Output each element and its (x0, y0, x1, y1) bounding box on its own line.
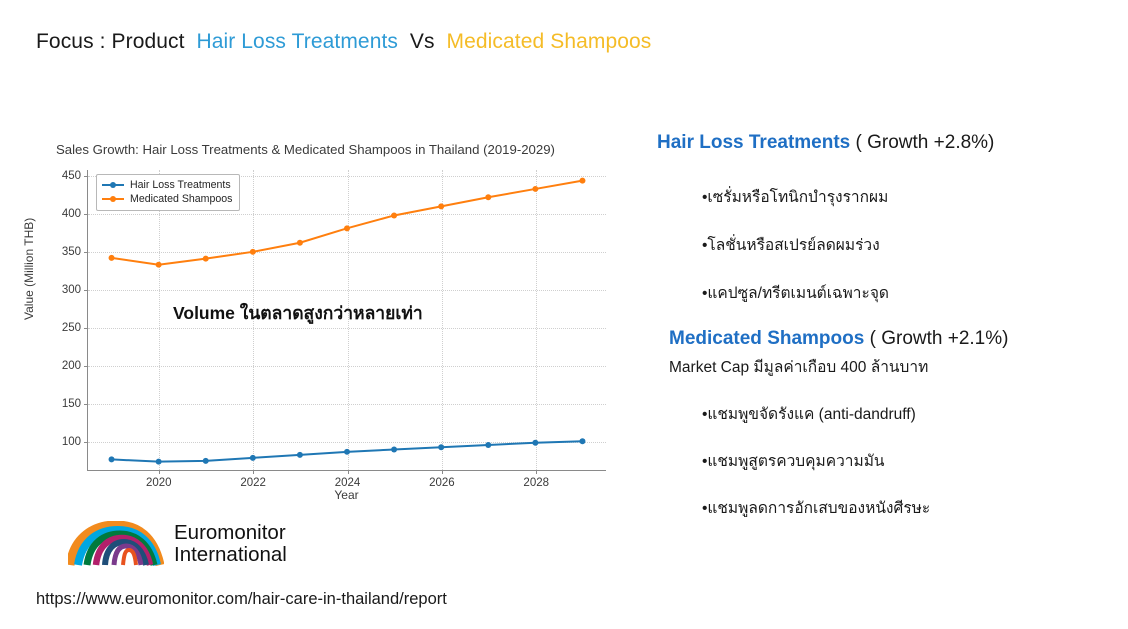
x-tick-mark (536, 470, 537, 474)
logo-line-1: Euromonitor (174, 522, 287, 544)
medicated-shampoos-bullets: •แชมพูขจัดรังแค (anti-dandruff) •แชมพูสู… (702, 401, 1107, 520)
euromonitor-logo: Euromonitor International (68, 521, 287, 567)
data-point (109, 255, 115, 261)
legend-label: Medicated Shampoos (130, 192, 232, 206)
x-tick-mark (348, 470, 349, 474)
sales-growth-line-chart: Sales Growth: Hair Loss Treatments & Med… (26, 142, 626, 502)
data-point (485, 442, 491, 448)
y-tick-label: 300 (62, 284, 81, 296)
data-point (438, 203, 444, 209)
hair-loss-treatments-bullets: •เซรั่มหรือโทนิกบำรุงรากผม •โลชั่นหรือสเ… (702, 184, 1107, 305)
chart-plot-area: 100150200250300350400450 202020222024202… (87, 170, 606, 471)
y-tick-label: 100 (62, 436, 81, 448)
data-point (203, 458, 209, 464)
data-point (109, 456, 115, 462)
section-a-growth: ( Growth +2.8%) (856, 132, 995, 153)
list-item: •แชมพูสูตรควบคุมความมัน (702, 448, 1107, 473)
source-url-text[interactable]: https://www.euromonitor.com/hair-care-in… (36, 590, 447, 609)
section-b-name: Medicated Shampoos (669, 328, 864, 349)
section-heading-medicated-shampoos: Medicated Shampoos ( Growth +2.1%) (669, 328, 1107, 350)
data-point (532, 186, 538, 192)
x-tick-mark (442, 470, 443, 474)
data-point (344, 225, 350, 231)
data-point (297, 452, 303, 458)
list-item: •แชมพูลดการอักเสบของหนังศีรษะ (702, 495, 1107, 520)
legend-item-hair-loss-treatments: Hair Loss Treatments (102, 178, 232, 192)
chart-annotation-text: Volume ในตลาดสูงกว่าหลายเท่า (173, 299, 423, 327)
section-a-name: Hair Loss Treatments (657, 132, 850, 153)
data-point (532, 440, 538, 446)
data-point (156, 459, 162, 465)
chart-legend: Hair Loss Treatments Medicated Shampoos (96, 174, 240, 211)
legend-swatch-icon (102, 179, 124, 191)
x-tick-label: 2026 (429, 477, 455, 489)
euromonitor-wordmark: Euromonitor International (174, 522, 287, 566)
y-tick-label: 350 (62, 246, 81, 258)
header-focus-label: Focus : Product (36, 30, 185, 53)
x-tick-label: 2028 (523, 477, 549, 489)
chart-title: Sales Growth: Hair Loss Treatments & Med… (56, 142, 555, 157)
data-point (250, 455, 256, 461)
x-tick-mark (159, 470, 160, 474)
data-point (485, 194, 491, 200)
logo-line-2: International (174, 544, 287, 566)
x-tick-mark (253, 470, 254, 474)
data-point (438, 444, 444, 450)
data-point (297, 240, 303, 246)
chart-x-axis-label: Year (87, 488, 606, 502)
header-vs: Vs (410, 30, 435, 53)
data-point (344, 449, 350, 455)
list-item: •แคปซูล/ทรีตเมนต์เฉพาะจุด (702, 280, 1107, 305)
data-point (203, 256, 209, 262)
legend-swatch-icon (102, 193, 124, 205)
data-point (579, 178, 585, 184)
section-heading-hair-loss-treatments: Hair Loss Treatments ( Growth +2.8%) (657, 132, 1107, 154)
y-tick-label: 250 (62, 322, 81, 334)
euromonitor-arcs-icon (68, 521, 164, 567)
right-content-column: Hair Loss Treatments ( Growth +2.8%) •เซ… (657, 132, 1107, 542)
data-point (391, 447, 397, 453)
section-b-wrapper: Medicated Shampoos ( Growth +2.1%) Marke… (669, 328, 1107, 379)
header-product-a: Hair Loss Treatments (196, 30, 398, 53)
chart-y-axis-label: Value (Million THB) (22, 218, 36, 320)
data-point (250, 249, 256, 255)
data-point (156, 262, 162, 268)
header-product-b: Medicated Shampoos (446, 30, 651, 53)
x-tick-label: 2024 (335, 477, 361, 489)
list-item: •เซรั่มหรือโทนิกบำรุงรากผม (702, 184, 1107, 209)
list-item: •โลชั่นหรือสเปรย์ลดผมร่วง (702, 232, 1107, 257)
list-item: •แชมพูขจัดรังแค (anti-dandruff) (702, 401, 1107, 426)
data-point (579, 438, 585, 444)
y-tick-label: 400 (62, 208, 81, 220)
x-tick-label: 2020 (146, 477, 172, 489)
y-tick-label: 450 (62, 170, 81, 182)
y-tick-label: 150 (62, 398, 81, 410)
legend-label: Hair Loss Treatments (130, 178, 231, 192)
slide-header: Focus : Product Hair Loss Treatments Vs … (36, 30, 651, 54)
legend-item-medicated-shampoos: Medicated Shampoos (102, 192, 232, 206)
section-b-subnote: Market Cap มีมูลค่าเกือบ 400 ล้านบาท (669, 354, 1107, 379)
section-b-growth: ( Growth +2.1%) (870, 328, 1009, 349)
y-tick-label: 200 (62, 360, 81, 372)
data-point (391, 212, 397, 218)
x-tick-label: 2022 (240, 477, 266, 489)
